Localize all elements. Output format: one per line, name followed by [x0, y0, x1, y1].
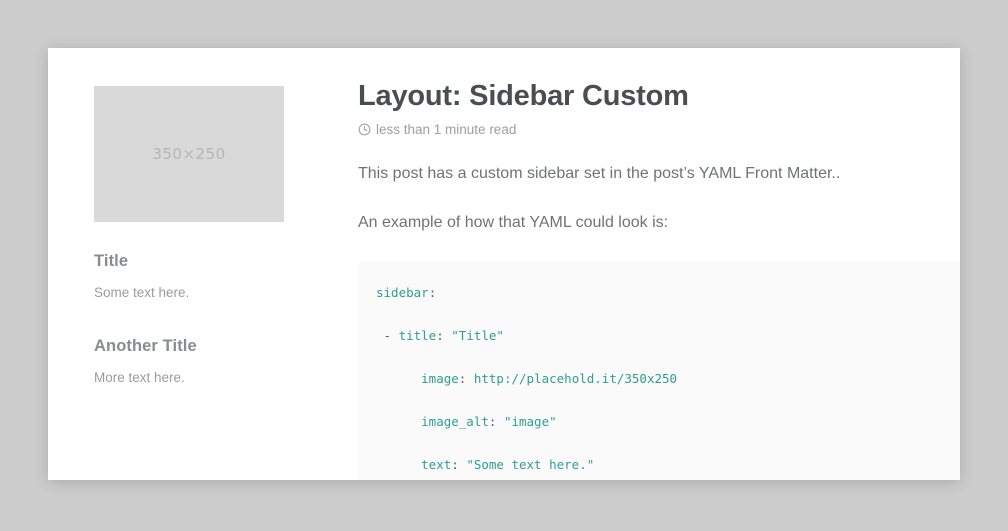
article-meta: less than 1 minute read: [358, 122, 960, 137]
code-line: image_alt: "image": [376, 411, 960, 433]
code-line: sidebar:: [376, 282, 960, 304]
page-content: 350×250 Title Some text here. Another Ti…: [48, 48, 960, 480]
read-time-label: less than 1 minute read: [376, 122, 516, 137]
custom-sidebar: 350×250 Title Some text here. Another Ti…: [94, 86, 286, 389]
sidebar-block: Title Some text here.: [94, 252, 286, 303]
clock-icon: [358, 123, 371, 136]
code-line: text: "Some text here.": [376, 454, 960, 476]
page-sheet: 350×250 Title Some text here. Another Ti…: [48, 48, 960, 480]
code-line: - title: "Title": [376, 325, 960, 347]
sidebar-block-title: Title: [94, 252, 286, 271]
sidebar-block-text: Some text here.: [94, 283, 286, 303]
article-body: Layout: Sidebar Custom less than 1 minut…: [358, 80, 960, 236]
page-title: Layout: Sidebar Custom: [358, 80, 960, 113]
code-line: image: http://placehold.it/350x250: [376, 368, 960, 390]
yaml-code-lines: sidebar: - title: "Title" image: http://…: [376, 282, 960, 480]
yaml-code-content: sidebar: - title: "Title" image: http://…: [358, 282, 960, 480]
sidebar-image-placeholder-label: 350×250: [152, 145, 225, 163]
article-paragraph: This post has a custom sidebar set in th…: [358, 162, 960, 187]
sidebar-block-title: Another Title: [94, 337, 286, 356]
sidebar-block-text: More text here.: [94, 368, 286, 388]
sidebar-image-placeholder: 350×250: [94, 86, 284, 222]
article-paragraph: An example of how that YAML could look i…: [358, 211, 960, 236]
yaml-code-block: sidebar: - title: "Title" image: http://…: [358, 262, 960, 480]
sidebar-block: Another Title More text here.: [94, 337, 286, 388]
